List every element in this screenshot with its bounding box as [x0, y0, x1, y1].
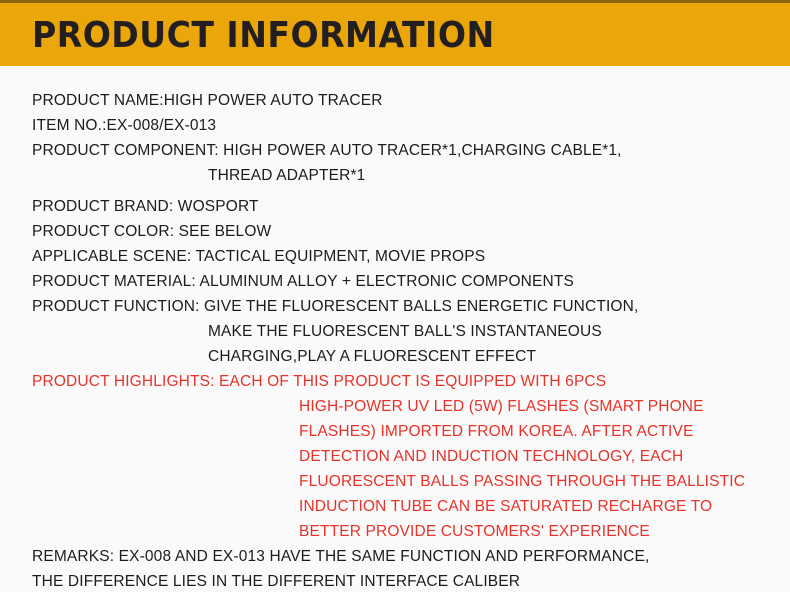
- product-information-page: PRODUCT INFORMATION PRODUCT NAME:HIGH PO…: [0, 0, 790, 588]
- spec-line: FLUORESCENT BALLS PASSING THROUGH THE BA…: [299, 472, 745, 492]
- spec-line: PRODUCT MATERIAL: ALUMINUM ALLOY + ELECT…: [32, 272, 574, 292]
- spec-line: THREAD ADAPTER*1: [208, 166, 365, 186]
- spec-line: ITEM NO.:EX-008/EX-013: [32, 116, 216, 136]
- header-band: PRODUCT INFORMATION: [0, 0, 790, 66]
- spec-line: PRODUCT COMPONENT: HIGH POWER AUTO TRACE…: [32, 141, 622, 161]
- spec-line: PRODUCT BRAND: WOSPORT: [32, 197, 259, 217]
- spec-line: PRODUCT FUNCTION: GIVE THE FLUORESCENT B…: [32, 297, 638, 317]
- spec-line: MAKE THE FLUORESCENT BALL'S INSTANTANEOU…: [208, 322, 602, 342]
- spec-line: THE DIFFERENCE LIES IN THE DIFFERENT INT…: [32, 572, 520, 592]
- spec-line: PRODUCT NAME:HIGH POWER AUTO TRACER: [32, 91, 383, 111]
- spec-line: INDUCTION TUBE CAN BE SATURATED RECHARGE…: [299, 497, 712, 517]
- spec-line: CHARGING,PLAY A FLUORESCENT EFFECT: [208, 347, 536, 367]
- spec-line: FLASHES) IMPORTED FROM KOREA. AFTER ACTI…: [299, 422, 693, 442]
- spec-line: BETTER PROVIDE CUSTOMERS' EXPERIENCE: [299, 522, 650, 542]
- page-title: PRODUCT INFORMATION: [32, 16, 495, 56]
- spec-line: REMARKS: EX-008 AND EX-013 HAVE THE SAME…: [32, 547, 649, 567]
- spec-line: APPLICABLE SCENE: TACTICAL EQUIPMENT, MO…: [32, 247, 485, 267]
- spec-line: DETECTION AND INDUCTION TECHNOLOGY, EACH: [299, 447, 683, 467]
- spec-line: PRODUCT HIGHLIGHTS: EACH OF THIS PRODUCT…: [32, 372, 606, 392]
- product-spec-list: PRODUCT NAME:HIGH POWER AUTO TRACERITEM …: [0, 66, 790, 588]
- spec-line: PRODUCT COLOR: SEE BELOW: [32, 222, 271, 242]
- spec-line: HIGH-POWER UV LED (5W) FLASHES (SMART PH…: [299, 397, 704, 417]
